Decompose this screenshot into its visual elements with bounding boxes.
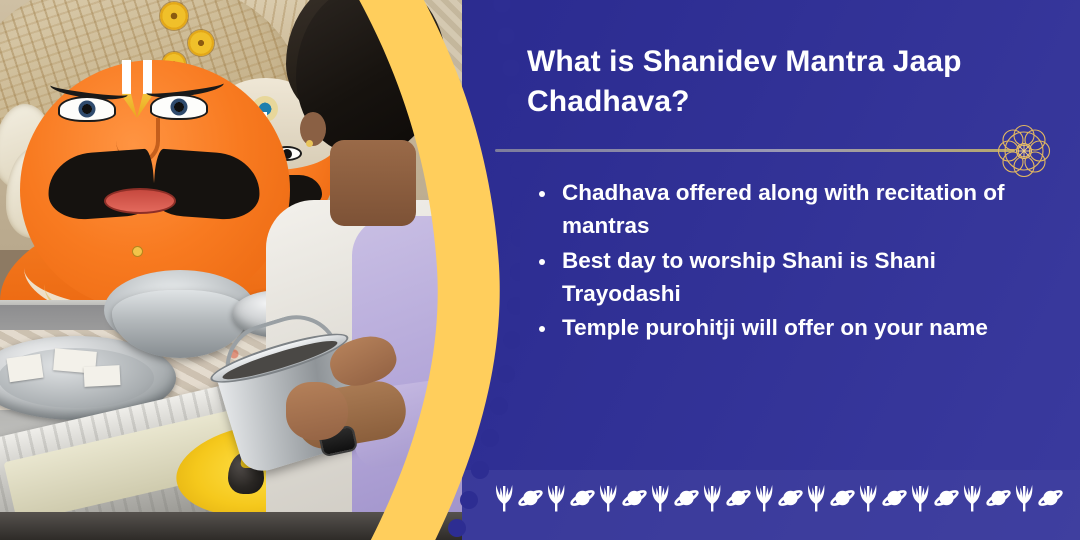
- saturn-planet-icon: [778, 489, 803, 507]
- large-face-chin-dot: [132, 246, 143, 257]
- large-face-eye-left: [58, 96, 116, 122]
- temple-photo: [0, 0, 462, 540]
- large-face-eye-right: [150, 94, 208, 120]
- bullet-list: Chadhava offered along with recitation o…: [531, 176, 1041, 345]
- list-item: Temple purohitji will offer on your name: [531, 311, 1041, 344]
- list-item: Chadhava offered along with recitation o…: [531, 176, 1041, 243]
- page-title-line2: Chadhava?: [527, 85, 690, 118]
- page-title-line1: What is Shanidev Mantra Jaap: [527, 45, 962, 78]
- devotee-hand-lower: [286, 382, 348, 440]
- devotee-neck: [330, 140, 416, 226]
- trident-icon: [496, 485, 512, 512]
- trident-icon: [652, 485, 668, 512]
- large-face-lips: [104, 188, 176, 214]
- devotee-ear: [300, 112, 326, 146]
- offering-paper: [84, 365, 121, 387]
- trident-icon: [912, 485, 928, 512]
- offering-paper: [6, 354, 43, 382]
- trident-icon: [548, 485, 564, 512]
- saturn-planet-icon: [934, 489, 959, 507]
- saturn-planet-icon: [882, 489, 907, 507]
- photo-inner: [0, 0, 462, 540]
- list-item: Best day to worship Shani is Shani Trayo…: [531, 244, 1041, 311]
- mandala-rosette-icon: [996, 123, 1052, 179]
- icon-strip: [495, 478, 1080, 526]
- saturn-planet-icon: [726, 489, 751, 507]
- page-title: What is Shanidev Mantra Jaap Chadhava?: [527, 42, 997, 122]
- trident-icon: [704, 485, 720, 512]
- trident-icon: [860, 485, 876, 512]
- trident-icon: [964, 485, 980, 512]
- saturn-planet-icon: [622, 489, 647, 507]
- saturn-planet-icon: [674, 489, 699, 507]
- title-divider: [495, 149, 1015, 152]
- saturn-planet-icon: [1038, 489, 1063, 507]
- trident-icon: [756, 485, 772, 512]
- saturn-planet-icon: [830, 489, 855, 507]
- saturn-planet-icon: [570, 489, 595, 507]
- slide-canvas: What is Shanidev Mantra Jaap Chadhava?: [0, 0, 1080, 540]
- saturn-planet-icon: [986, 489, 1011, 507]
- devotee-earring: [306, 140, 313, 147]
- trident-icon: [600, 485, 616, 512]
- trident-icon: [1016, 485, 1032, 512]
- trident-icon: [808, 485, 824, 512]
- saturn-planet-icon: [518, 489, 543, 507]
- marigold-flower: [188, 30, 214, 56]
- temple-floor: [0, 512, 462, 540]
- content-panel: What is Shanidev Mantra Jaap Chadhava?: [495, 0, 1080, 540]
- marigold-flower: [160, 2, 188, 30]
